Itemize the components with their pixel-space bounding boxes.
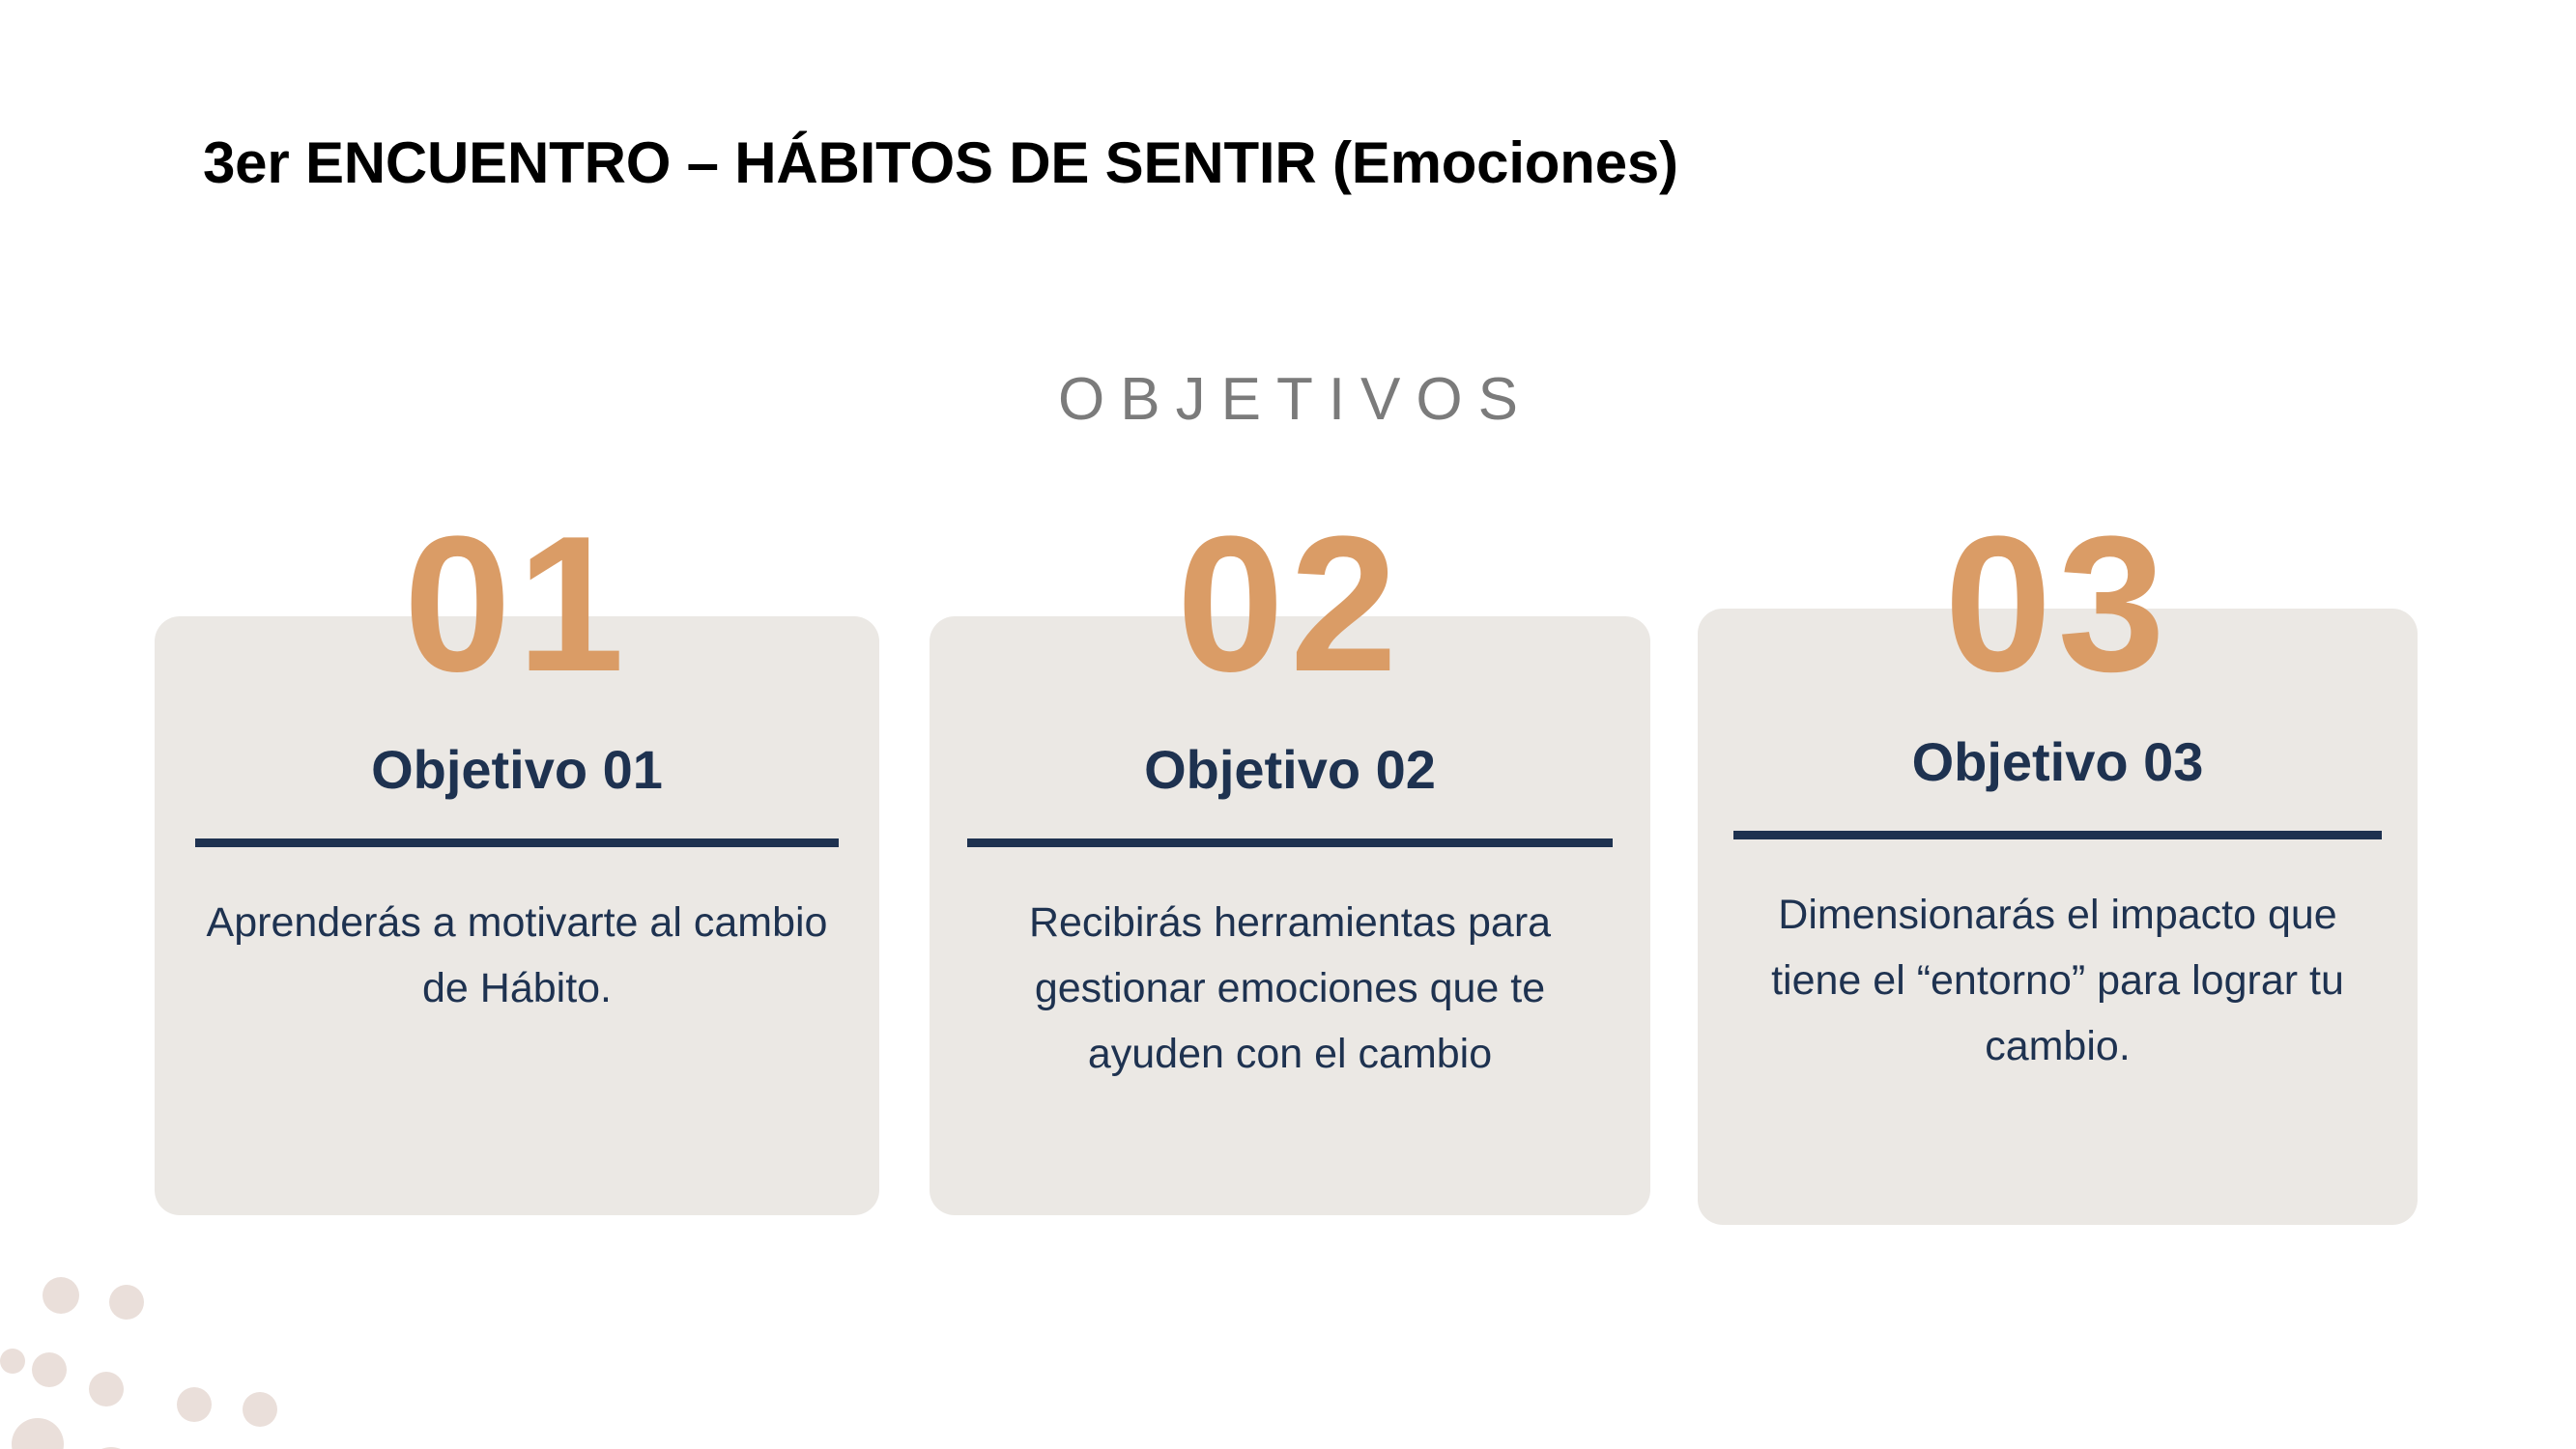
objectives-card-row: 01 Objetivo 01 Aprenderás a motivarte al… xyxy=(0,0,2576,1449)
objective-card-3[interactable]: 03 Objetivo 03 Dimensionarás el impacto … xyxy=(1698,533,2418,1225)
objective-description-2: Recibirás herramientas para gestionar em… xyxy=(959,890,1621,1087)
objective-card-1[interactable]: 01 Objetivo 01 Aprenderás a motivarte al… xyxy=(155,533,879,1215)
divider-rule-2 xyxy=(967,838,1613,847)
objective-description-1: Aprenderás a motivarte al cambio de Hábi… xyxy=(184,890,850,1021)
slide-root: 3er ENCUENTRO – HÁBITOS DE SENTIR (Emoci… xyxy=(0,0,2576,1449)
objective-number-3: 03 xyxy=(1698,533,2418,676)
objective-card-2[interactable]: 02 Objetivo 02 Recibirás herramientas pa… xyxy=(930,533,1650,1215)
objective-number-2: 02 xyxy=(930,533,1650,676)
divider-rule-3 xyxy=(1733,831,2382,839)
divider-rule-1 xyxy=(195,838,839,847)
objective-number-1: 01 xyxy=(155,533,879,676)
objective-description-3: Dimensionarás el impacto que tiene el “e… xyxy=(1727,882,2389,1079)
